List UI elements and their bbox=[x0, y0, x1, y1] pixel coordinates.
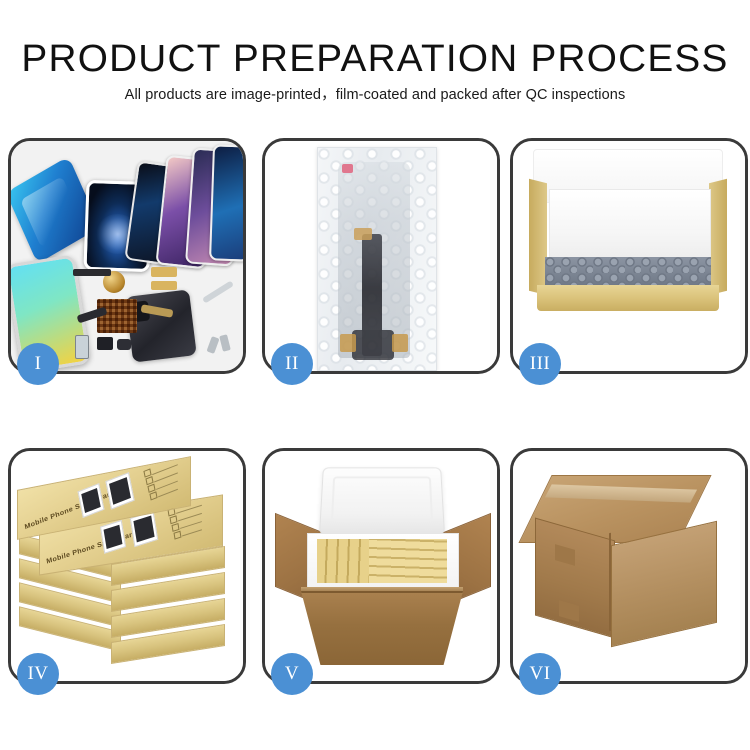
checkline-10 bbox=[182, 529, 202, 536]
chip-array-part bbox=[97, 299, 137, 333]
step-badge-2: II bbox=[271, 343, 313, 385]
steps-grid: I II bbox=[8, 138, 742, 678]
flex-cable-part-2 bbox=[151, 267, 177, 277]
flex-cable-strip bbox=[362, 234, 382, 356]
flex-cable-part-1 bbox=[73, 269, 111, 276]
open-gold-box-illustration bbox=[513, 141, 745, 371]
step-3-image bbox=[513, 141, 745, 371]
step-5-image bbox=[265, 451, 497, 681]
battery-part bbox=[75, 335, 89, 359]
sealed-carton-illustration bbox=[513, 451, 745, 681]
phone-parts-assortment-illustration bbox=[11, 141, 243, 371]
checkline-8 bbox=[178, 513, 202, 521]
styrofoam-lid bbox=[319, 467, 445, 534]
step-panel-2: II bbox=[262, 138, 500, 374]
box-art-screen-1 bbox=[78, 483, 105, 518]
box-art-screen-2 bbox=[105, 472, 134, 509]
gold-boxes-row-2 bbox=[369, 539, 447, 583]
checkline-4 bbox=[158, 489, 178, 498]
step-4-image: Mobile Phone Spare Parts bbox=[11, 451, 243, 681]
checkbox-10 bbox=[173, 531, 181, 540]
gold-box-front-edge bbox=[537, 285, 719, 311]
step-panel-5: V bbox=[262, 448, 500, 684]
gold-connector-2 bbox=[340, 334, 356, 352]
white-foam-sheet bbox=[549, 189, 711, 261]
step-2-image bbox=[265, 141, 497, 371]
step-badge-4: IV bbox=[17, 653, 59, 695]
small-component-2 bbox=[117, 339, 131, 350]
box-label-2: Mobile Phone Spare Parts bbox=[46, 530, 140, 566]
carton-with-styrofoam-illustration bbox=[265, 451, 497, 681]
step-6-image bbox=[513, 451, 745, 681]
step-panel-3: III bbox=[510, 138, 748, 374]
step-badge-3: III bbox=[519, 343, 561, 385]
box-right-flap bbox=[709, 179, 727, 295]
repair-tool-1 bbox=[202, 280, 234, 303]
small-component-1 bbox=[97, 337, 113, 350]
phone-device-4 bbox=[209, 144, 243, 261]
product-preparation-infographic: PRODUCT PREPARATION PROCESS All products… bbox=[0, 0, 750, 750]
pink-label-sticker bbox=[342, 164, 353, 173]
checkbox-4 bbox=[149, 491, 157, 500]
step-badge-6: VI bbox=[519, 653, 561, 695]
repair-tool-2 bbox=[207, 336, 220, 354]
page-subtitle: All products are image-printed，film-coat… bbox=[0, 88, 750, 103]
flex-cable-part-3 bbox=[151, 281, 177, 290]
page-title: PRODUCT PREPARATION PROCESS bbox=[0, 40, 750, 78]
gold-connector-3 bbox=[392, 334, 408, 352]
bubble-wrap-bag bbox=[317, 147, 437, 371]
carton-corner-seam bbox=[609, 533, 611, 631]
box-art-screen-3 bbox=[100, 520, 126, 554]
step-panel-1: I bbox=[8, 138, 246, 374]
carton-body bbox=[301, 591, 463, 665]
bubble-wrapped-screen-illustration bbox=[265, 141, 497, 371]
step-panel-6: VI bbox=[510, 448, 748, 684]
step-1-image bbox=[11, 141, 243, 371]
step-badge-5: V bbox=[271, 653, 313, 695]
gold-connector-1 bbox=[354, 228, 372, 240]
checkline-3 bbox=[156, 481, 178, 490]
step-badge-1: I bbox=[17, 343, 59, 385]
step-panel-4: Mobile Phone Spare Parts bbox=[8, 448, 246, 684]
checkline-9 bbox=[180, 521, 202, 529]
repair-tool-3 bbox=[219, 334, 231, 351]
stacked-gold-boxes-illustration: Mobile Phone Spare Parts bbox=[11, 451, 243, 681]
